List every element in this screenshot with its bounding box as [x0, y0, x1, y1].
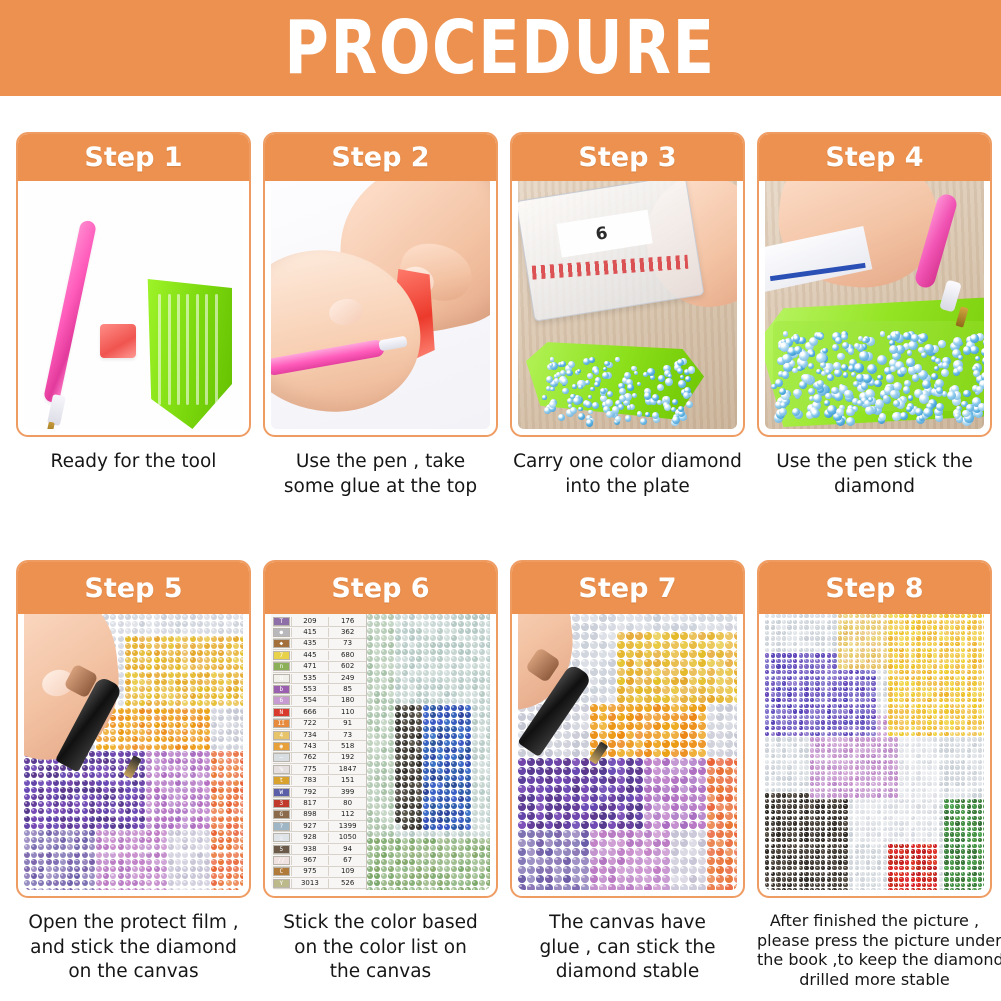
diamond-bead — [871, 664, 875, 668]
diamond-bead — [716, 623, 724, 631]
diamond-bead — [67, 844, 73, 850]
diamond-bead — [707, 875, 715, 883]
diamond-bead — [883, 687, 887, 691]
step-card-7[interactable]: Step 7 — [510, 560, 745, 898]
diamond-bead — [146, 794, 152, 800]
diamond-bead — [707, 677, 715, 685]
diamond-bead — [903, 332, 911, 340]
diamond-bead — [599, 731, 607, 739]
diamond-bead — [950, 743, 954, 747]
diamond-bead — [843, 681, 847, 685]
color-count: 109 — [328, 867, 366, 876]
diamond-bead — [635, 767, 643, 775]
diamond-bead — [967, 715, 971, 719]
diamond-bead — [944, 687, 948, 691]
diamond-bead — [161, 621, 167, 627]
diamond-bead — [883, 653, 887, 657]
diamond-bead — [367, 663, 373, 669]
diamond-bead — [838, 715, 842, 719]
diamond-bead — [810, 676, 814, 680]
diamond-bead — [866, 720, 870, 724]
diamond-bead — [175, 679, 181, 685]
diamond-bead — [894, 620, 898, 624]
step-badge-4: Step 4 — [759, 134, 990, 181]
diamond-bead — [24, 866, 30, 872]
diamond-bead — [855, 765, 859, 769]
diamond-bead — [82, 808, 88, 814]
diamond-bead — [197, 729, 203, 735]
diamond-bead — [226, 693, 232, 699]
diamond-bead — [367, 775, 373, 781]
diamond-bead — [967, 732, 971, 736]
diamond-bead — [168, 650, 174, 656]
diamond-bead — [821, 732, 825, 736]
diamond-bead — [662, 731, 670, 739]
diamond-bead — [24, 844, 30, 850]
diamond-bead — [955, 754, 959, 758]
diamond-bead — [927, 653, 931, 657]
diamond-bead — [451, 698, 457, 704]
diamond-bead — [38, 772, 44, 778]
diamond-bead — [608, 821, 616, 829]
diamond-bead — [950, 687, 954, 691]
diamond-bead — [916, 776, 920, 780]
diamond-bead — [860, 748, 864, 752]
diamond-bead — [96, 837, 102, 843]
diamond-bead — [24, 780, 30, 786]
diamond-bead — [182, 751, 188, 757]
diamond-bead — [899, 687, 903, 691]
diamond-bead — [146, 859, 152, 865]
diamond-bead — [554, 875, 562, 883]
diamond-bead — [644, 686, 652, 694]
diamond-bead — [74, 888, 80, 890]
diamond-bead — [927, 760, 931, 764]
diamond-bead — [74, 852, 80, 858]
diamond-bead — [626, 839, 634, 847]
diamond-bead — [437, 831, 443, 837]
diamond-bead — [626, 722, 634, 730]
diamond-bead — [680, 677, 688, 685]
green-tray-icon — [146, 279, 232, 429]
diamond-bead — [883, 614, 887, 618]
diamond-bead — [871, 670, 875, 674]
diamond-bead — [662, 866, 670, 874]
diamond-bead — [698, 722, 706, 730]
diamond-bead — [240, 643, 243, 649]
diamond-bead — [983, 670, 984, 674]
diamond-bead — [175, 859, 181, 865]
diamond-bead — [793, 760, 797, 764]
diamond-bead — [765, 692, 769, 696]
diamond-bead — [771, 737, 775, 741]
diamond-bead — [218, 722, 224, 728]
diamond-bead — [961, 636, 965, 640]
diamond-bead — [961, 715, 965, 719]
diamond-bead — [572, 821, 580, 829]
diamond-bead — [783, 331, 789, 337]
diamond-bead — [458, 670, 464, 676]
diamond-bead — [617, 713, 625, 721]
diamond-bead — [472, 614, 478, 620]
diamond-bead — [190, 693, 196, 699]
diamond-bead — [197, 744, 203, 750]
diamond-bead — [486, 838, 490, 844]
diamond-bead — [388, 803, 394, 809]
diamond-bead — [888, 648, 892, 652]
diamond-bead — [423, 761, 429, 767]
diamond-bead — [444, 852, 450, 858]
diamond-bead — [226, 794, 232, 800]
diamond-bead — [653, 614, 661, 622]
diamond-bead — [888, 765, 892, 769]
diamond-bead — [118, 873, 124, 879]
diamond-bead — [782, 676, 786, 680]
diamond-bead — [465, 887, 471, 890]
diamond-bead — [168, 729, 174, 735]
diamond-bead — [662, 812, 670, 820]
diamond-bead — [793, 698, 797, 702]
diamond-bead — [787, 664, 791, 668]
diamond-bead — [38, 794, 44, 800]
diamond-bead — [590, 650, 598, 658]
diamond-bead — [849, 776, 853, 780]
diamond-bead — [849, 670, 853, 674]
diamond-bead — [978, 743, 982, 747]
diamond-bead — [444, 663, 450, 669]
diamond-bead — [950, 765, 954, 769]
diamond-bead — [240, 880, 243, 886]
diamond-bead — [626, 812, 634, 820]
diamond-bead — [125, 614, 131, 620]
diamond-bead — [961, 631, 965, 635]
diamond-bead — [916, 709, 920, 713]
diamond-bead — [815, 748, 819, 752]
diamond-bead — [771, 625, 775, 629]
diamond-bead — [132, 852, 138, 858]
diamond-bead — [211, 628, 217, 634]
diamond-bead — [545, 812, 553, 820]
diamond-bead — [572, 794, 580, 802]
diamond-bead — [125, 722, 131, 728]
diamond-bead — [154, 700, 160, 706]
diamond-bead — [437, 796, 443, 802]
diamond-bead — [849, 631, 853, 635]
diamond-bead — [877, 653, 881, 657]
diamond-bead — [486, 887, 490, 890]
diamond-bead — [416, 747, 422, 753]
diamond-bead — [367, 684, 373, 690]
diamond-bead — [860, 788, 864, 792]
diamond-bead — [866, 681, 870, 685]
diamond-bead — [827, 726, 831, 730]
diamond-bead — [838, 754, 842, 758]
diamond-bead — [118, 888, 124, 890]
step-card-4[interactable]: Step 4 — [757, 132, 992, 437]
diamond-bead — [680, 668, 688, 676]
diamond-bead — [240, 672, 243, 678]
diamond-bead — [787, 625, 791, 629]
diamond-bead — [527, 794, 535, 802]
diamond-bead — [554, 866, 562, 874]
diamond-bead — [486, 733, 490, 739]
diamond-bead — [827, 659, 831, 663]
diamond-bead — [374, 621, 380, 627]
diamond-bead — [103, 736, 109, 742]
diamond-bead — [24, 859, 30, 865]
diamond-bead — [776, 737, 780, 741]
diamond-bead — [175, 700, 181, 706]
diamond-bead — [118, 816, 124, 822]
diamond-bead — [626, 767, 634, 775]
diamond-bead — [374, 740, 380, 746]
diamond-bead — [367, 754, 373, 760]
diamond-bead — [905, 676, 909, 680]
diamond-bead — [168, 772, 174, 778]
diamond-bead — [782, 732, 786, 736]
color-list-row: N666110 — [273, 707, 366, 718]
diamond-bead — [211, 758, 217, 764]
diamond-bead — [662, 632, 670, 640]
diamond-bead — [855, 620, 859, 624]
diamond-bead — [479, 887, 485, 890]
diamond-bead — [554, 848, 562, 856]
diamond-bead — [374, 754, 380, 760]
color-symbol-swatch: ? — [273, 822, 290, 831]
diamond-bead — [240, 621, 243, 627]
diamond-bead — [689, 704, 697, 712]
diamond-bead — [888, 698, 892, 702]
diamond-bead — [939, 754, 943, 758]
diamond-bead — [233, 708, 239, 714]
diamond-bead — [218, 844, 224, 850]
diamond-bead — [983, 614, 984, 618]
diamond-bead — [451, 628, 457, 634]
diamond-bead — [409, 796, 415, 802]
diamond-bead — [46, 823, 52, 829]
diamond-bead — [815, 737, 819, 741]
diamond-bead — [787, 782, 791, 786]
diamond-bead — [416, 761, 422, 767]
diamond-bead — [423, 782, 429, 788]
diamond-bead — [211, 722, 217, 728]
step-photo-6: T209176●415362◆435737445680n471602U53524… — [265, 614, 496, 896]
diamond-bead — [197, 664, 203, 670]
diamond-bead — [545, 749, 553, 757]
diamond-bead — [916, 715, 920, 719]
diamond-bead — [465, 789, 471, 795]
diamond-bead — [89, 751, 95, 757]
diamond-bead — [793, 704, 797, 708]
diamond-bead — [437, 705, 443, 711]
diamond-bead — [381, 775, 387, 781]
diamond-bead — [197, 693, 203, 699]
diamond-bead — [906, 358, 914, 366]
diamond-bead — [218, 628, 224, 634]
step-caption-3: Carry one color diamond into the plate — [510, 450, 745, 499]
diamond-bead — [776, 636, 780, 640]
diamond-bead — [775, 379, 783, 387]
diamond-bead — [944, 732, 948, 736]
diamond-bead — [118, 708, 124, 714]
diamond-bead — [190, 808, 196, 814]
diamond-bead — [233, 736, 239, 742]
step-card-3[interactable]: Step 3 6 — [510, 132, 745, 437]
diamond-bead — [402, 852, 408, 858]
diamond-bead — [899, 625, 903, 629]
diamond-bead — [395, 747, 401, 753]
diamond-bead — [698, 875, 706, 883]
diamond-bead — [423, 859, 429, 865]
diamond-bead — [139, 657, 145, 663]
diamond-bead — [444, 887, 450, 890]
diamond-bead — [139, 873, 145, 879]
diamond-bead — [444, 628, 450, 634]
diamond-bead — [416, 859, 422, 865]
diamond-bead — [765, 653, 769, 657]
diamond-bead — [911, 642, 915, 646]
diamond-bead — [240, 700, 243, 706]
diamond-bead — [608, 659, 616, 667]
diamond-bead — [60, 880, 66, 886]
diamond-bead — [782, 670, 786, 674]
diamond-bead — [554, 839, 562, 847]
step-card-2[interactable]: Step 2 — [263, 132, 498, 437]
diamond-bead — [765, 732, 769, 736]
diamond-bead — [161, 780, 167, 786]
diamond-bead — [472, 824, 478, 830]
diamond-bead — [680, 704, 688, 712]
diamond-bead — [125, 679, 131, 685]
diamond-bead — [409, 866, 415, 872]
diamond-bead — [518, 821, 526, 829]
diamond-bead — [240, 664, 243, 670]
diamond-bead — [572, 866, 580, 874]
diamond-bead — [662, 659, 670, 667]
diamond-bead — [388, 747, 394, 753]
diamond-bead — [871, 653, 875, 657]
diamond-bead — [815, 620, 819, 624]
diamond-bead — [821, 648, 825, 652]
diamond-bead — [765, 720, 769, 724]
diamond-bead — [955, 737, 959, 741]
diamond-bead — [479, 712, 485, 718]
diamond-bead — [771, 782, 775, 786]
diamond-bead — [888, 676, 892, 680]
diamond-bead — [367, 747, 373, 753]
diamond-bead — [218, 866, 224, 872]
diamond-bead — [877, 732, 881, 736]
diamond-bead — [905, 765, 909, 769]
diamond-bead — [367, 768, 373, 774]
diamond-bead — [82, 823, 88, 829]
step-card-6[interactable]: Step 6 T209176●415362◆435737445680n47160… — [263, 560, 498, 898]
diamond-bead — [402, 740, 408, 746]
diamond-bead — [423, 740, 429, 746]
diamond-bead — [118, 621, 124, 627]
diamond-bead — [939, 737, 943, 741]
diamond-bead — [479, 761, 485, 767]
step-photo-3: 6 — [512, 181, 743, 435]
diamond-bead — [545, 839, 553, 847]
diamond-bead — [53, 888, 59, 890]
diamond-bead — [465, 768, 471, 774]
diamond-bead — [402, 754, 408, 760]
diamond-bead — [911, 754, 915, 758]
diamond-bead — [536, 821, 544, 829]
diamond-bead — [182, 722, 188, 728]
diamond-bead — [599, 785, 607, 793]
diamond-bead — [860, 732, 864, 736]
diamond-bead — [916, 625, 920, 629]
diamond-bead — [430, 614, 436, 620]
diamond-bead — [409, 782, 415, 788]
diamond-bead — [139, 787, 145, 793]
diamond-bead — [978, 631, 982, 635]
diamond-bead — [233, 880, 239, 886]
diamond-bead — [437, 649, 443, 655]
diamond-bead — [653, 659, 661, 667]
diamond-bead — [218, 664, 224, 670]
color-count: 85 — [328, 685, 366, 694]
diamond-bead — [939, 732, 943, 736]
diamond-bead — [905, 709, 909, 713]
diamond-bead — [680, 839, 688, 847]
step-card-8[interactable]: Step 8 — [757, 560, 992, 898]
color-list-table[interactable]: T209176●415362◆435737445680n471602U53524… — [271, 614, 367, 890]
diamond-bead — [458, 705, 464, 711]
diamond-bead — [860, 737, 864, 741]
diamond-bead — [799, 636, 803, 640]
diamond-bead — [472, 677, 478, 683]
diamond-bead — [662, 686, 670, 694]
diamond-bead — [423, 726, 429, 732]
diamond-bead — [125, 852, 131, 858]
diamond-bead — [698, 758, 706, 766]
diamond-bead — [927, 732, 931, 736]
diamond-bead — [922, 715, 926, 719]
diamond-bead — [832, 726, 836, 730]
diamond-bead — [146, 664, 152, 670]
diamond-bead — [983, 743, 984, 747]
diamond-bead — [734, 623, 737, 631]
diamond-bead — [197, 636, 203, 642]
diamond-bead — [662, 722, 670, 730]
diamond-bead — [599, 713, 607, 721]
diamond-bead — [725, 632, 733, 640]
diamond-bead — [804, 653, 808, 657]
step-card-1[interactable]: Step 1 — [16, 132, 251, 437]
diamond-bead — [972, 720, 976, 724]
diamond-bead — [877, 614, 881, 618]
color-symbol-swatch: % — [273, 765, 290, 774]
diamond-bead — [175, 708, 181, 714]
diamond-bead — [804, 636, 808, 640]
diamond-bead — [146, 686, 152, 692]
diamond-bead — [916, 676, 920, 680]
diamond-bead — [472, 726, 478, 732]
diamond-bead — [927, 636, 931, 640]
diamond-bead — [416, 733, 422, 739]
step-card-5[interactable]: Step 5 — [16, 560, 251, 898]
diamond-bead — [67, 837, 73, 843]
diamond-bead — [888, 620, 892, 624]
diamond-bead — [810, 720, 814, 724]
diamond-bead — [472, 705, 478, 711]
diamond-bead — [927, 642, 931, 646]
diamond-bead — [458, 740, 464, 746]
diamond-bead — [402, 831, 408, 837]
